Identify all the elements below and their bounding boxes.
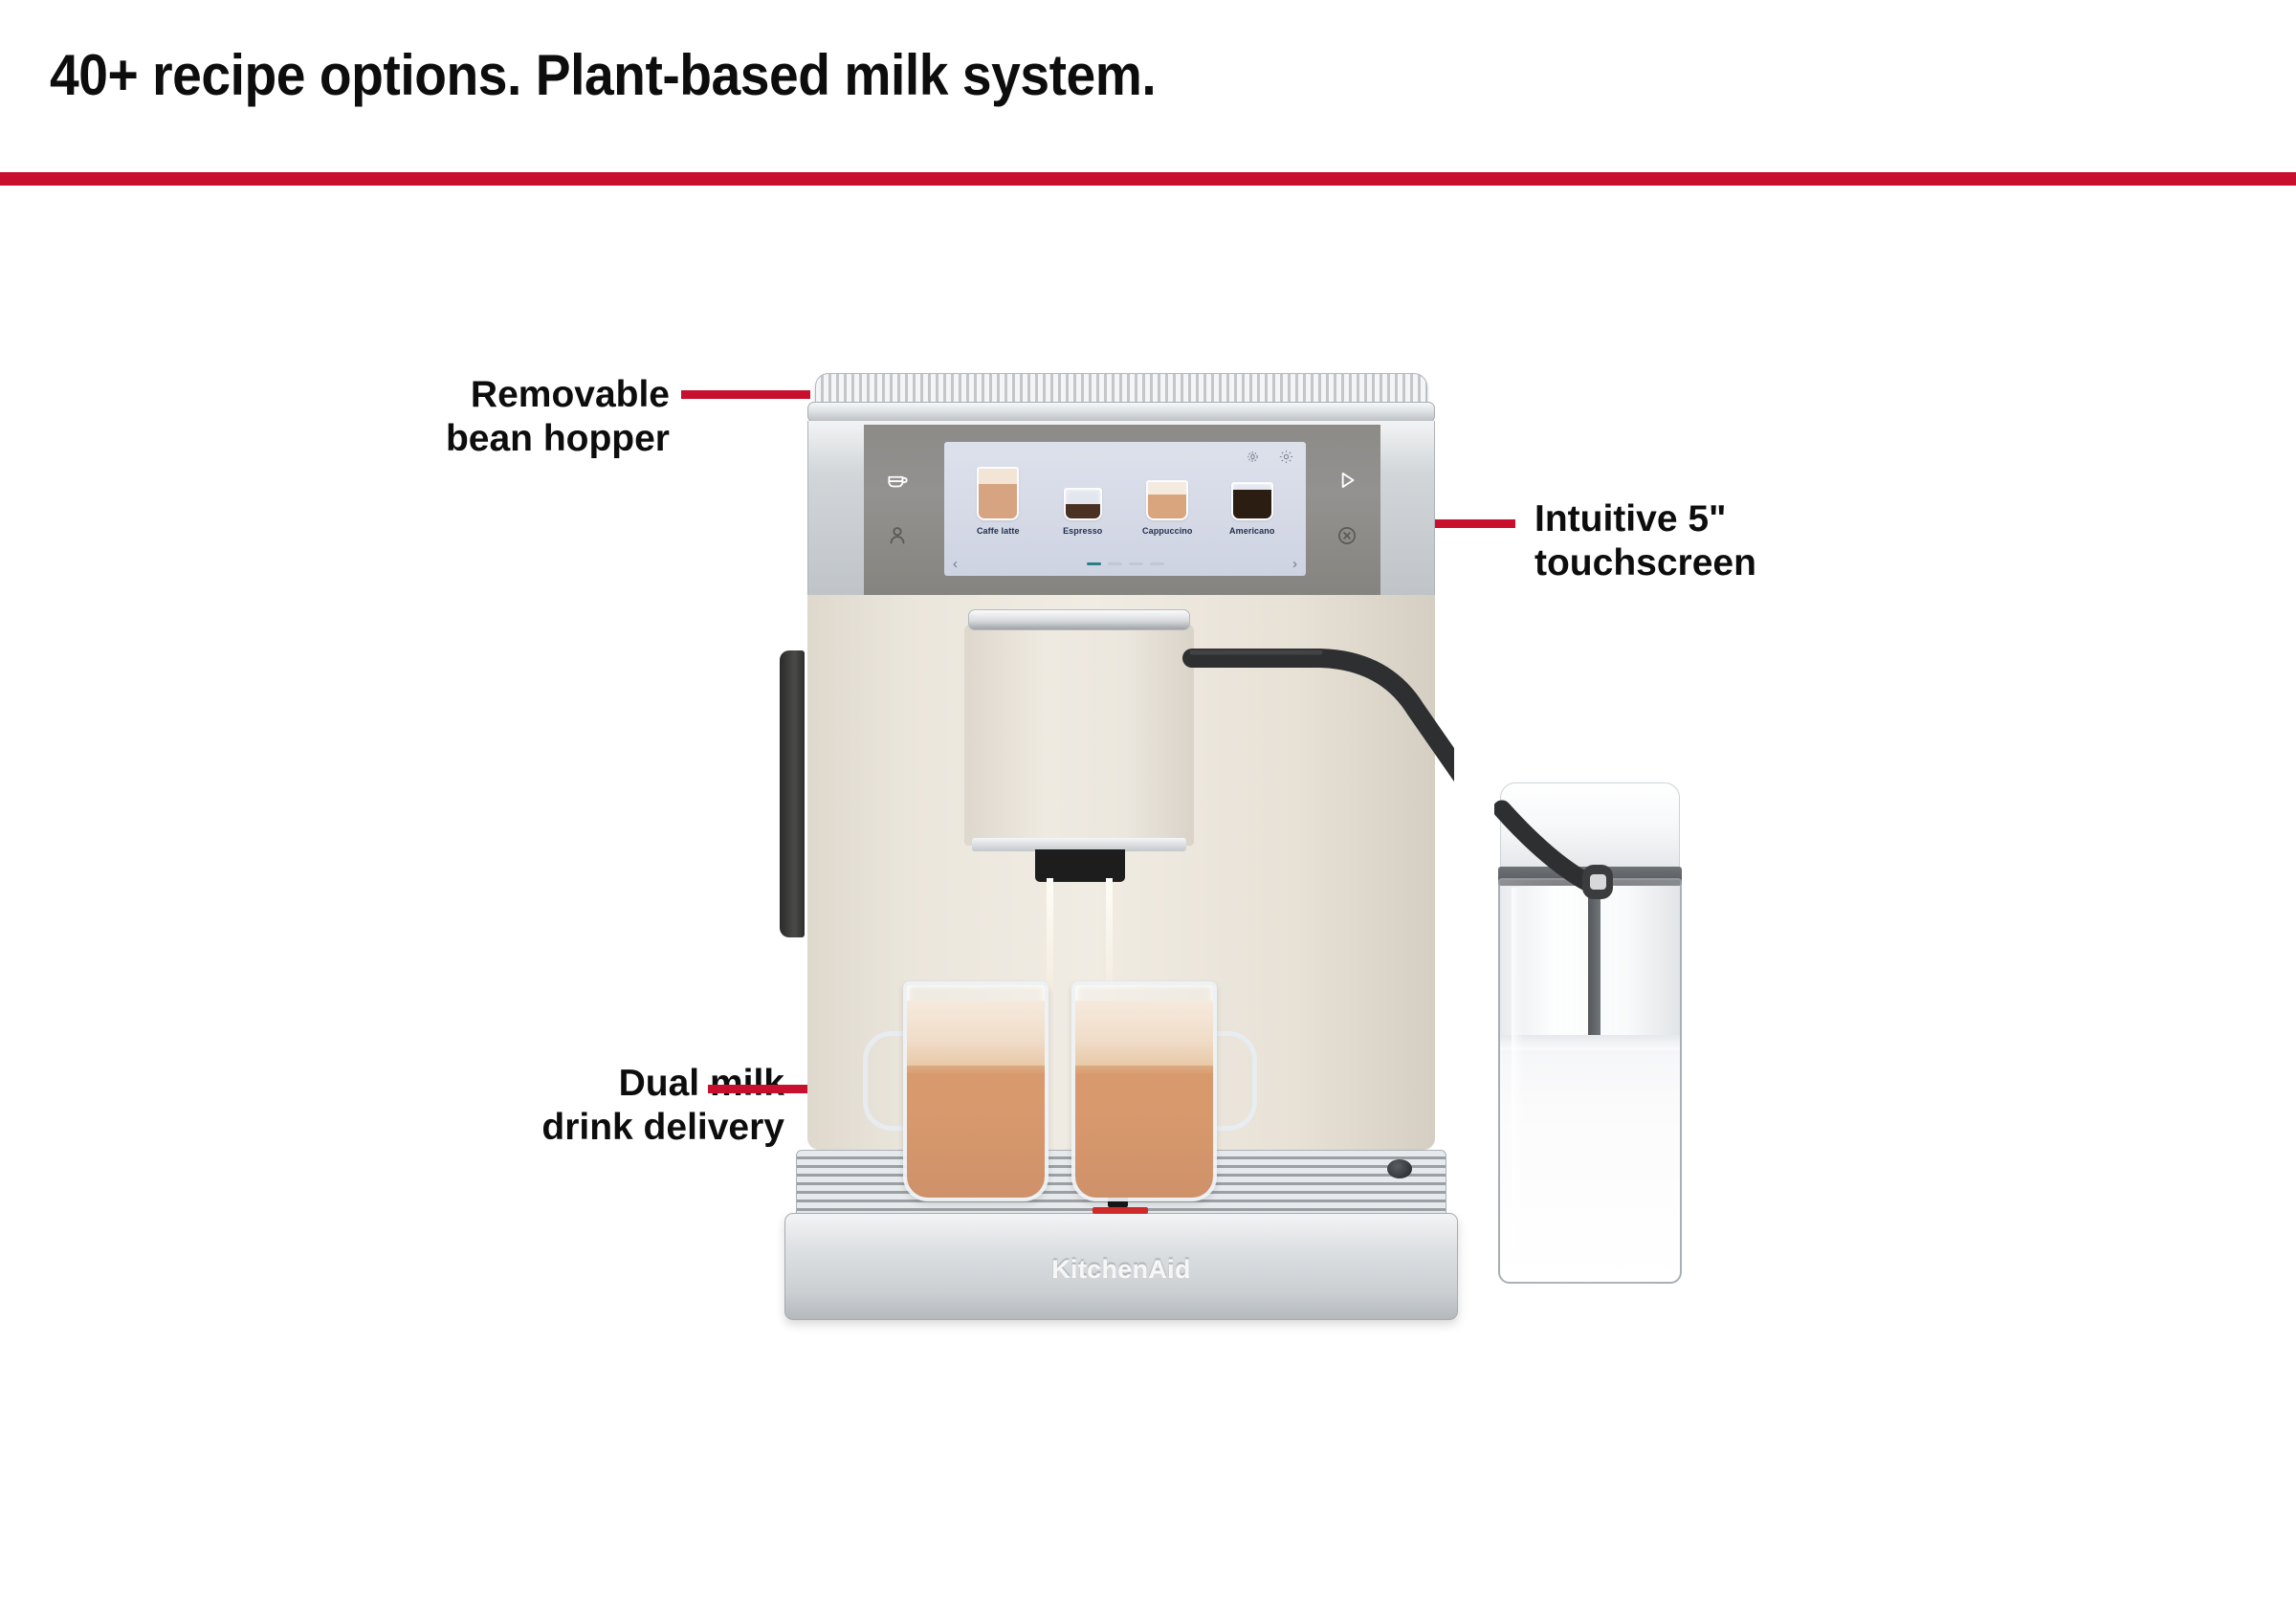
drink-glass-graphic — [1064, 488, 1102, 520]
screen-pagination-bar: ‹ › — [944, 557, 1306, 571]
mug-handle — [863, 1031, 905, 1131]
cancel-icon[interactable] — [1335, 523, 1359, 548]
page-dot[interactable] — [1108, 562, 1122, 565]
page-dot[interactable] — [1150, 562, 1164, 565]
dispenser-head — [964, 624, 1194, 846]
callout-line-1: Dual milk — [344, 1062, 784, 1106]
drink-fill — [979, 482, 1017, 518]
side-trim-panel — [780, 650, 805, 937]
mug-coffee-layer — [1075, 1052, 1213, 1198]
drink-tile-label: Caffe latte — [962, 526, 1033, 536]
mug-handle — [1215, 1031, 1257, 1131]
mug-foam-layer — [1075, 1001, 1213, 1066]
mug-foam-layer — [907, 1001, 1045, 1066]
dispenser-chrome-trim — [968, 609, 1190, 630]
bean-strength-icon[interactable] — [1245, 449, 1261, 465]
drink-tile-label: Americano — [1217, 526, 1288, 536]
page-dot-active[interactable] — [1087, 562, 1101, 565]
callout-line-1: Removable — [287, 373, 670, 417]
header-divider-rule — [0, 172, 2296, 186]
callout-dual-milk-drink-delivery: Dual milk drink delivery — [344, 1062, 784, 1150]
drip-tray-float-indicator — [1093, 1207, 1148, 1214]
profile-icon[interactable] — [885, 523, 910, 548]
cup-icon[interactable] — [885, 468, 910, 493]
latte-mug-left — [903, 981, 1049, 1201]
milk-stream-right — [1106, 878, 1113, 991]
display-housing: Caffe latteEspressoCappuccinoAmericano ‹… — [807, 421, 1435, 595]
page-dot[interactable] — [1129, 562, 1143, 565]
callout-line-1: Intuitive 5" — [1534, 497, 1936, 541]
drink-tile-label: Cappuccino — [1132, 526, 1203, 536]
drink-foam — [979, 469, 1017, 484]
milk-carafe — [1494, 782, 1686, 1289]
dual-spout — [1035, 849, 1125, 882]
gear-icon[interactable] — [1278, 449, 1294, 465]
drink-glass-graphic — [1231, 482, 1273, 520]
drink-tile-label: Espresso — [1048, 526, 1118, 536]
drink-tile-espresso[interactable]: Espresso — [1048, 488, 1118, 536]
latte-mug-right — [1071, 981, 1217, 1201]
kitchenaid-logo: KitchenAid — [785, 1254, 1457, 1284]
play-icon[interactable] — [1335, 468, 1359, 493]
drink-glass-graphic — [1146, 480, 1188, 520]
mug-coffee-layer — [907, 1052, 1045, 1198]
callout-line-2: bean hopper — [287, 417, 670, 461]
callout-removable-bean-hopper: Removable bean hopper — [287, 373, 670, 461]
drink-tile-caffe-latte[interactable]: Caffe latte — [962, 467, 1033, 536]
prev-page-chevron-icon[interactable]: ‹ — [953, 557, 958, 571]
drink-glass-graphic — [977, 467, 1019, 520]
control-panel: Caffe latteEspressoCappuccinoAmericano ‹… — [864, 425, 1380, 595]
milk-stream-left — [1047, 878, 1053, 991]
next-page-chevron-icon[interactable]: › — [1292, 557, 1297, 571]
bean-hopper-lid-rim — [807, 402, 1435, 423]
drink-foam — [1148, 482, 1186, 495]
drip-tray-base: KitchenAid — [784, 1213, 1458, 1320]
callout-intuitive-touchscreen: Intuitive 5" touchscreen — [1534, 497, 1936, 585]
mug-glass — [1071, 981, 1217, 1201]
espresso-machine: Caffe latteEspressoCappuccinoAmericano ‹… — [784, 373, 1454, 1387]
carafe-tube-connector — [1494, 782, 1686, 1289]
touchscreen[interactable]: Caffe latteEspressoCappuccinoAmericano ‹… — [944, 442, 1306, 576]
drink-fill — [1233, 490, 1271, 518]
drink-tile-cappuccino[interactable]: Cappuccino — [1132, 480, 1203, 536]
drink-fill — [1148, 493, 1186, 518]
callout-line-2: touchscreen — [1534, 541, 1936, 585]
drink-tile-americano[interactable]: Americano — [1217, 482, 1288, 536]
page-headline: 40+ recipe options. Plant-based milk sys… — [50, 42, 1156, 108]
drip-tray-knob[interactable] — [1387, 1159, 1412, 1178]
callout-line-2: drink delivery — [344, 1106, 784, 1150]
page-indicator-dots — [1087, 562, 1164, 565]
drink-tile-list: Caffe latteEspressoCappuccinoAmericano — [944, 467, 1306, 536]
drink-fill — [1066, 504, 1100, 518]
mug-glass — [903, 981, 1049, 1201]
screen-top-icons — [1245, 449, 1294, 465]
